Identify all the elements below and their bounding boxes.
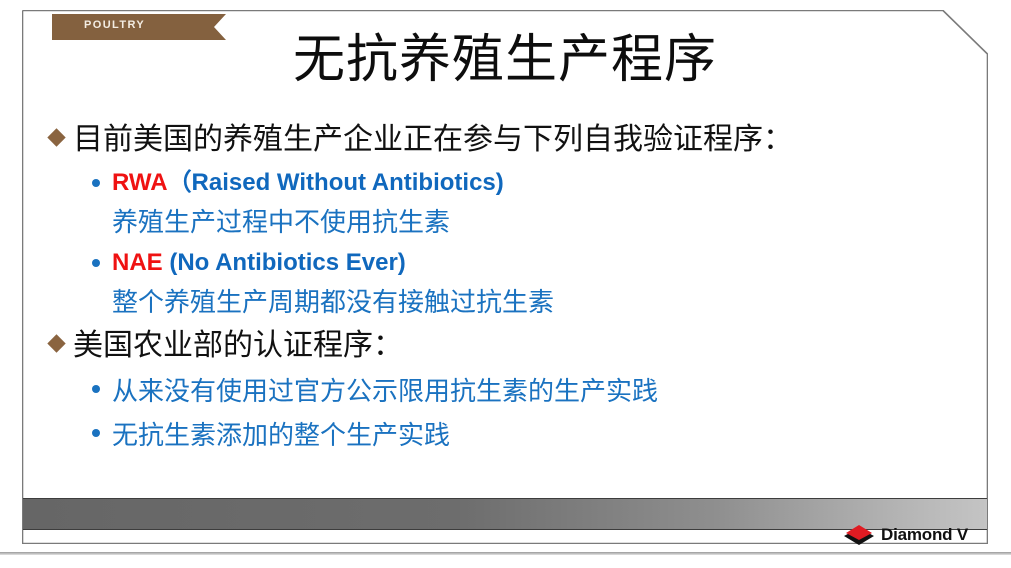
- slide-canvas: POULTRY 无抗养殖生产程序 目前美国的养殖生产企业正在参与下列自我验证程序…: [22, 10, 988, 544]
- diamond-bullet-icon: [47, 334, 65, 352]
- bullet-level1-text: 美国农业部的认证程序：: [73, 324, 403, 368]
- rwa-subtext: 养殖生产过程中不使用抗生素: [112, 202, 504, 244]
- poultry-tab-label: POULTRY: [84, 19, 145, 31]
- nae-expansion: (No Antibiotics Ever): [163, 249, 406, 276]
- diamond-v-mark-icon: [842, 524, 876, 546]
- nae-acronym: NAE: [112, 249, 163, 276]
- dot-bullet-icon: [92, 259, 100, 267]
- dot-bullet-icon: [92, 429, 100, 437]
- bottom-divider: [0, 552, 1011, 555]
- nae-heading: NAE (No Antibiotics Ever): [112, 244, 554, 282]
- poultry-section-tab: POULTRY: [52, 14, 226, 40]
- bullet-level2-rwa: RWA（Raised Without Antibiotics) 养殖生产过程中不…: [38, 164, 972, 244]
- bullet-level2-text: 从来没有使用过官方公示限用抗生素的生产实践: [112, 370, 658, 414]
- slide-body: 目前美国的养殖生产企业正在参与下列自我验证程序： RWA（Raised With…: [38, 118, 972, 458]
- dot-bullet-icon: [92, 179, 100, 187]
- bullet-level2: 无抗生素添加的整个生产实践: [38, 414, 972, 458]
- nae-block: NAE (No Antibiotics Ever) 整个养殖生产周期都没有接触过…: [112, 244, 554, 324]
- brand-name-label: Diamond V: [881, 525, 968, 545]
- diamond-bullet-icon: [47, 128, 65, 146]
- rwa-acronym: RWA: [112, 169, 168, 196]
- rwa-heading: RWA（Raised Without Antibiotics): [112, 164, 504, 202]
- brand-logo: Diamond V: [842, 518, 988, 552]
- nae-subtext: 整个养殖生产周期都没有接触过抗生素: [112, 282, 554, 324]
- diamond-v-glyph: [842, 524, 876, 546]
- bullet-level1: 目前美国的养殖生产企业正在参与下列自我验证程序：: [38, 118, 972, 162]
- bullet-level1-text: 目前美国的养殖生产企业正在参与下列自我验证程序：: [73, 118, 793, 162]
- dot-bullet-icon: [92, 385, 100, 393]
- rwa-expansion: （Raised Without Antibiotics): [168, 169, 504, 196]
- bullet-level2-text: 无抗生素添加的整个生产实践: [112, 414, 450, 458]
- bullet-level1: 美国农业部的认证程序：: [38, 324, 972, 368]
- rwa-block: RWA（Raised Without Antibiotics) 养殖生产过程中不…: [112, 164, 504, 244]
- bullet-level2-nae: NAE (No Antibiotics Ever) 整个养殖生产周期都没有接触过…: [38, 244, 972, 324]
- bullet-level2: 从来没有使用过官方公示限用抗生素的生产实践: [38, 370, 972, 414]
